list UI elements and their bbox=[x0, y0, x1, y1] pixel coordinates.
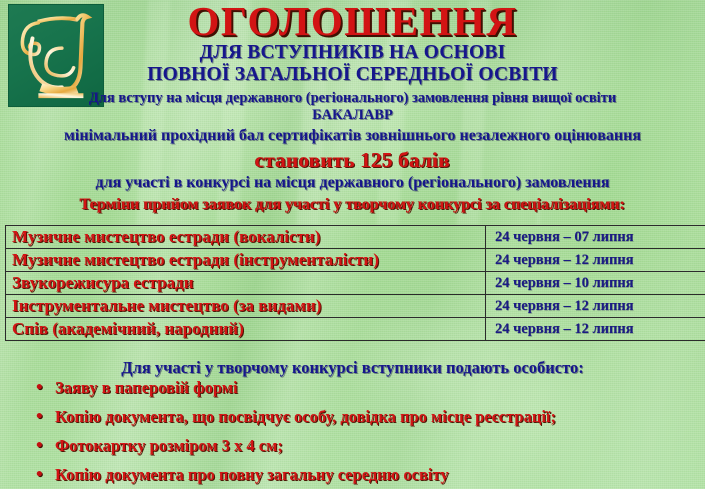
table-row: Інструментальне мистецтво (за видами) 24… bbox=[6, 295, 705, 318]
intro-line: Для вступу на місця державного (регіонал… bbox=[0, 90, 705, 107]
required-documents-list: Заяву в паперовій формі Копію документа,… bbox=[36, 378, 556, 489]
table-row: Музичне мистецтво естради (вокалісти) 24… bbox=[6, 226, 705, 249]
specialization-cell: Звукорежисура естради bbox=[6, 272, 486, 295]
table-row: Музичне мистецтво естради (інструменталі… bbox=[6, 249, 705, 272]
purpose-line: для участі в конкурсі на місця державног… bbox=[0, 174, 705, 192]
dates-cell: 24 червня – 10 липня bbox=[486, 272, 705, 295]
subtitle-line-1: ДЛЯ ВСТУПНИКІВ НА ОСНОВІ bbox=[0, 42, 705, 64]
deadlines-table-body: Музичне мистецтво естради (вокалісти) 24… bbox=[6, 226, 705, 341]
degree-label: БАКАЛАВР bbox=[0, 107, 705, 124]
subtitle-line-2: ПОВНОЇ ЗАГАЛЬНОЇ СЕРЕДНЬОЇ ОСВІТИ bbox=[0, 64, 705, 86]
requirement-line: мінімальний прохідний бал сертифікатів з… bbox=[0, 127, 705, 145]
minimum-score-line: становить 125 балів bbox=[0, 148, 705, 173]
dates-cell: 24 червня – 07 липня bbox=[486, 226, 705, 249]
specialization-cell: Музичне мистецтво естради (інструменталі… bbox=[6, 249, 486, 272]
table-row: Спів (академічний, народний) 24 червня –… bbox=[6, 318, 705, 341]
list-item: Копію документа, що посвідчує особу, дов… bbox=[36, 407, 556, 427]
page-title: ОГОЛОШЕННЯ bbox=[0, 1, 705, 42]
list-item: Фотокартку розміром 3 х 4 см; bbox=[36, 436, 556, 456]
list-item: Копію документа про повну загальну серед… bbox=[36, 465, 556, 485]
table-row: Звукорежисура естради 24 червня – 10 лип… bbox=[6, 272, 705, 295]
table-heading: Терміни прийом заявок для участі у творч… bbox=[0, 196, 705, 214]
dates-cell: 24 червня – 12 липня bbox=[486, 318, 705, 341]
documents-heading: Для участі у творчому конкурсі вступники… bbox=[0, 358, 705, 378]
dates-cell: 24 червня – 12 липня bbox=[486, 295, 705, 318]
announcement-poster: ОГОЛОШЕННЯ ДЛЯ ВСТУПНИКІВ НА ОСНОВІ ПОВН… bbox=[0, 0, 705, 489]
list-item: Заяву в паперовій формі bbox=[36, 378, 556, 398]
specialization-cell: Музичне мистецтво естради (вокалісти) bbox=[6, 226, 486, 249]
specialization-cell: Спів (академічний, народний) bbox=[6, 318, 486, 341]
dates-cell: 24 червня – 12 липня bbox=[486, 249, 705, 272]
specialization-cell: Інструментальне мистецтво (за видами) bbox=[6, 295, 486, 318]
deadlines-table: Музичне мистецтво естради (вокалісти) 24… bbox=[5, 225, 705, 341]
